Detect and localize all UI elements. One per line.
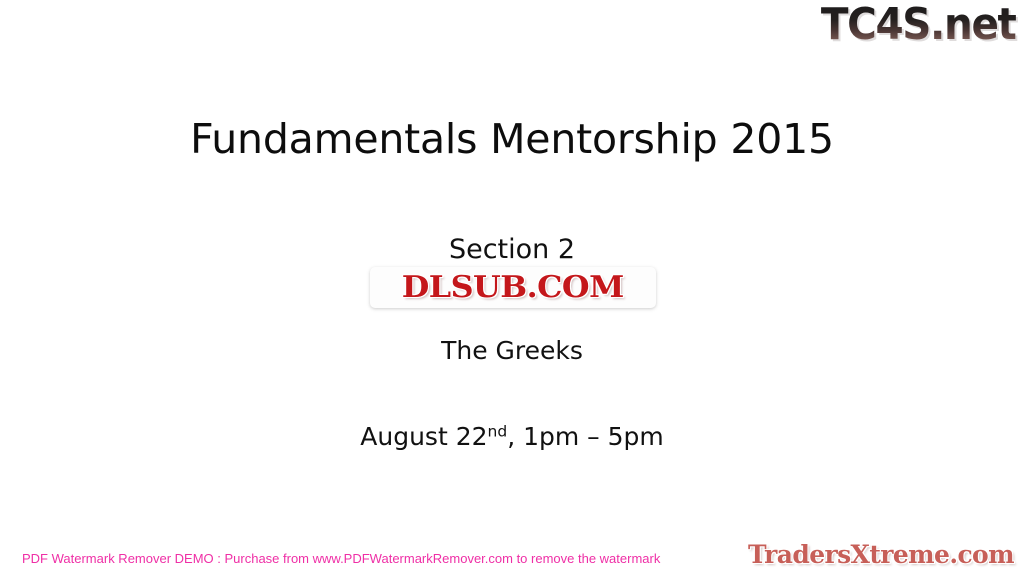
datetime-date: August 22 [360, 422, 487, 451]
subject-label: The Greeks [0, 335, 1024, 367]
section-label: Section 2 [0, 233, 1024, 267]
datetime-time-range: , 1pm – 5pm [507, 422, 664, 451]
tc4s-logo-text: TC4S.net [821, 2, 1016, 48]
datetime-ordinal-suffix: nd [488, 422, 508, 440]
presentation-slide: TC4S.net TC4S.net Fundamentals Mentorshi… [0, 0, 1024, 576]
pdf-watermark-remover-note: PDF Watermark Remover DEMO : Purchase fr… [22, 550, 660, 567]
dlsub-watermark-text: DLSUB.COM [402, 273, 624, 303]
page-title: Fundamentals Mentorship 2015 [0, 113, 1024, 165]
tradersxtreme-logo: TradersXtreme.com [748, 541, 1014, 568]
dlsub-watermark-badge: DLSUB.COM [370, 267, 656, 308]
datetime-label: August 22nd, 1pm – 5pm [0, 420, 1024, 454]
